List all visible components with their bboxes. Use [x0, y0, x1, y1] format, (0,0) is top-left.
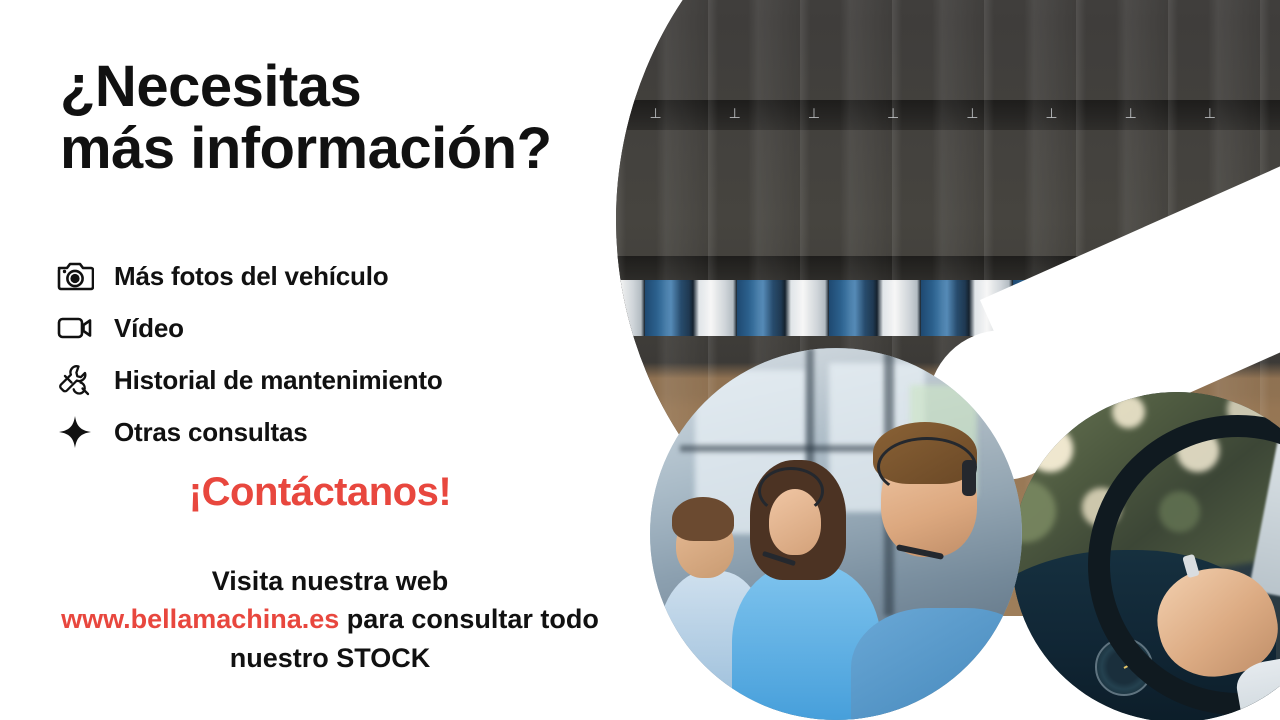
list-item-label: Más fotos del vehículo [114, 261, 388, 292]
list-item-label: Otras consultas [114, 417, 308, 448]
website-line-3: nuestro STOCK [0, 639, 660, 677]
list-item: Otras consultas [52, 406, 672, 458]
feature-list: Más fotos del vehículo Vídeo [52, 250, 672, 458]
driving-photo [1012, 392, 1280, 720]
list-item-label: Historial de mantenimiento [114, 365, 443, 396]
website-line-1: Visita nuestra web [0, 562, 660, 600]
website-line-2-rest: para consultar todo [339, 604, 599, 634]
page-title: ¿Necesitas más información? [60, 56, 700, 180]
website-callout: Visita nuestra web www.bellamachina.es p… [0, 562, 660, 677]
camera-icon [52, 256, 98, 296]
callcenter-photo [650, 348, 1022, 720]
promo-poster: +++++ +++++ ⊥⊥⊥⊥⊥ ⊥⊥⊥⊥⊥ [0, 0, 1280, 720]
list-item: Más fotos del vehículo [52, 250, 672, 302]
wrench-tools-icon [52, 360, 98, 400]
text-column: ¿Necesitas más información? Más fotos de… [0, 0, 700, 720]
list-item: Historial de mantenimiento [52, 354, 672, 406]
sparkle-star-icon [52, 412, 98, 452]
contact-cta[interactable]: ¡Contáctanos! [0, 470, 640, 515]
list-item-label: Vídeo [114, 313, 184, 344]
video-camera-icon [52, 308, 98, 348]
website-line-2: www.bellamachina.es para consultar todo [0, 600, 660, 638]
list-item: Vídeo [52, 302, 672, 354]
website-url[interactable]: www.bellamachina.es [61, 604, 339, 634]
